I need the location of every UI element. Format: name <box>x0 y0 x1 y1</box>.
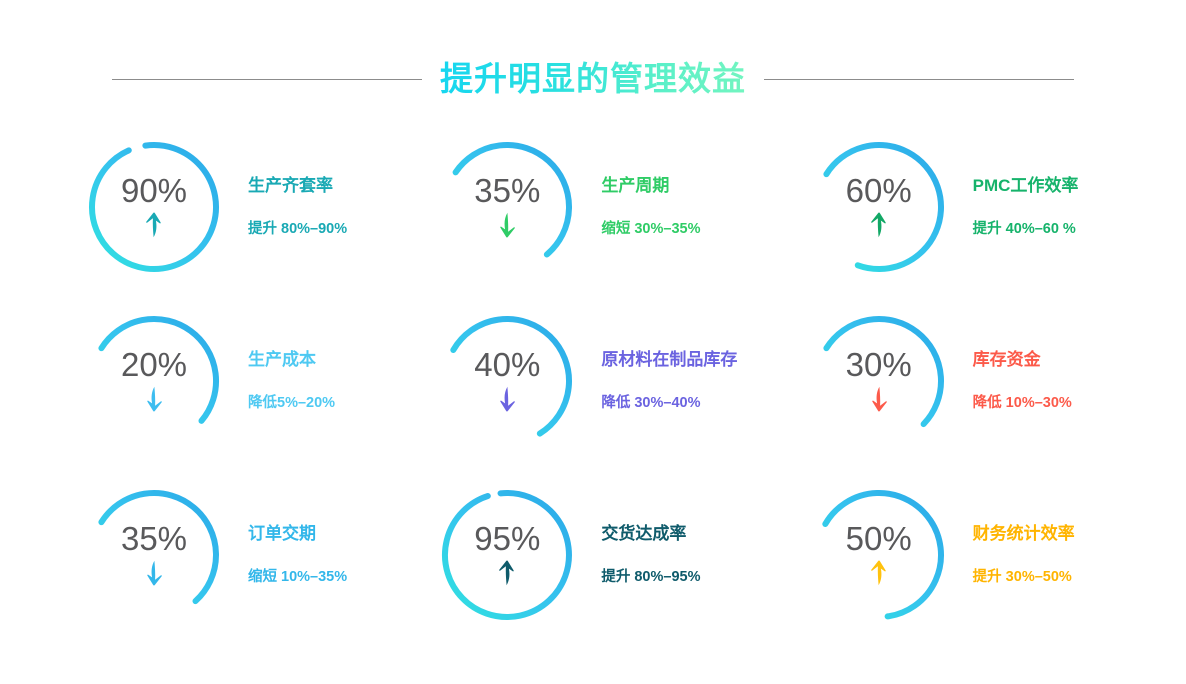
metric-delta-production-cycle: 缩短 30%–35% <box>601 221 700 238</box>
metric-labels: PMC工作效率 提升 40%–60 % <box>973 176 1079 238</box>
metric-card-production-kitting-rate[interactable]: 90% 生产齐套率 提升 80%–90% <box>0 120 395 294</box>
progress-ring-svg <box>439 487 575 623</box>
metrics-grid: 90% 生产齐套率 提升 80%–90% <box>0 120 1186 660</box>
title-rule-left <box>112 79 422 80</box>
page-title: 提升明显的管理效益 <box>440 61 746 97</box>
progress-arc <box>456 145 569 255</box>
progress-dial: 60% <box>811 139 947 275</box>
metric-card-order-lead-time[interactable]: 35% 订单交期 缩短 10%–35% <box>0 468 395 642</box>
progress-ring-svg <box>86 313 222 449</box>
progress-ring-svg <box>811 487 947 623</box>
metric-delta-delivery-achievement-rate: 提升 80%–95% <box>601 569 700 586</box>
progress-arc <box>825 493 941 616</box>
metric-card-raw-material-wip-inventory[interactable]: 40% 原材料在制品库存 降低 30%–40% <box>395 294 790 468</box>
metric-labels: 生产成本 降低5%–20% <box>248 350 335 412</box>
progress-arc <box>101 319 216 421</box>
title-rule-right <box>764 79 1074 80</box>
progress-ring-svg <box>811 313 947 449</box>
progress-ring-svg <box>439 139 575 275</box>
metric-name-production-cycle: 生产周期 <box>601 176 669 196</box>
progress-ring-svg <box>811 139 947 275</box>
metric-delta-raw-material-wip-inventory: 降低 30%–40% <box>601 395 700 412</box>
metric-delta-order-lead-time: 缩短 10%–35% <box>248 569 347 586</box>
progress-arc <box>826 319 941 424</box>
progress-arc <box>826 145 941 269</box>
metric-name-production-kitting-rate: 生产齐套率 <box>248 176 333 196</box>
metric-card-production-cycle[interactable]: 35% 生产周期 缩短 30%–35% <box>395 120 790 294</box>
progress-dial: 35% <box>86 487 222 623</box>
metric-delta-production-kitting-rate: 提升 80%–90% <box>248 221 347 238</box>
metric-labels: 财务统计效率 提升 30%–50% <box>973 524 1075 586</box>
metric-delta-financial-statistics-efficiency: 提升 30%–50% <box>973 569 1072 586</box>
metric-labels: 订单交期 缩短 10%–35% <box>248 524 347 586</box>
metric-labels: 生产齐套率 提升 80%–90% <box>248 176 347 238</box>
metric-name-order-lead-time: 订单交期 <box>248 524 316 544</box>
metric-name-pmc-work-efficiency: PMC工作效率 <box>973 176 1079 196</box>
progress-ring-svg <box>86 487 222 623</box>
progress-dial: 30% <box>811 313 947 449</box>
metric-name-delivery-achievement-rate: 交货达成率 <box>601 524 686 544</box>
progress-dial: 20% <box>86 313 222 449</box>
metric-card-financial-statistics-efficiency[interactable]: 50% 财务统计效率 提升 30%–50% <box>791 468 1186 642</box>
metric-delta-inventory-capital: 降低 10%–30% <box>973 395 1072 412</box>
progress-arc <box>454 319 570 434</box>
metric-card-production-cost[interactable]: 20% 生产成本 降低5%–20% <box>0 294 395 468</box>
progress-dial: 50% <box>811 487 947 623</box>
metric-labels: 交货达成率 提升 80%–95% <box>601 524 700 586</box>
metric-name-financial-statistics-efficiency: 财务统计效率 <box>973 524 1075 544</box>
metric-delta-pmc-work-efficiency: 提升 40%–60 % <box>973 221 1076 238</box>
metric-card-delivery-achievement-rate[interactable]: 95% 交货达成率 提升 80%–95% <box>395 468 790 642</box>
metric-name-production-cost: 生产成本 <box>248 350 316 370</box>
page-header: 提升明显的管理效益 <box>0 52 1186 106</box>
metric-name-raw-material-wip-inventory: 原材料在制品库存 <box>601 350 737 370</box>
metric-card-inventory-capital[interactable]: 30% 库存资金 降低 10%–30% <box>791 294 1186 468</box>
progress-dial: 35% <box>439 139 575 275</box>
progress-arc <box>101 493 216 601</box>
metric-labels: 原材料在制品库存 降低 30%–40% <box>601 350 737 412</box>
metric-name-inventory-capital: 库存资金 <box>973 350 1041 370</box>
progress-ring-svg <box>86 139 222 275</box>
progress-dial: 95% <box>439 487 575 623</box>
progress-ring-svg <box>439 313 575 449</box>
metric-delta-production-cost: 降低5%–20% <box>248 395 335 412</box>
progress-dial: 90% <box>86 139 222 275</box>
metric-labels: 库存资金 降低 10%–30% <box>973 350 1072 412</box>
progress-dial: 40% <box>439 313 575 449</box>
progress-arc <box>92 145 216 269</box>
metric-card-pmc-work-efficiency[interactable]: 60% PMC工作效率 提升 40%–60 % <box>791 120 1186 294</box>
progress-arc <box>445 493 569 617</box>
metric-labels: 生产周期 缩短 30%–35% <box>601 176 700 238</box>
